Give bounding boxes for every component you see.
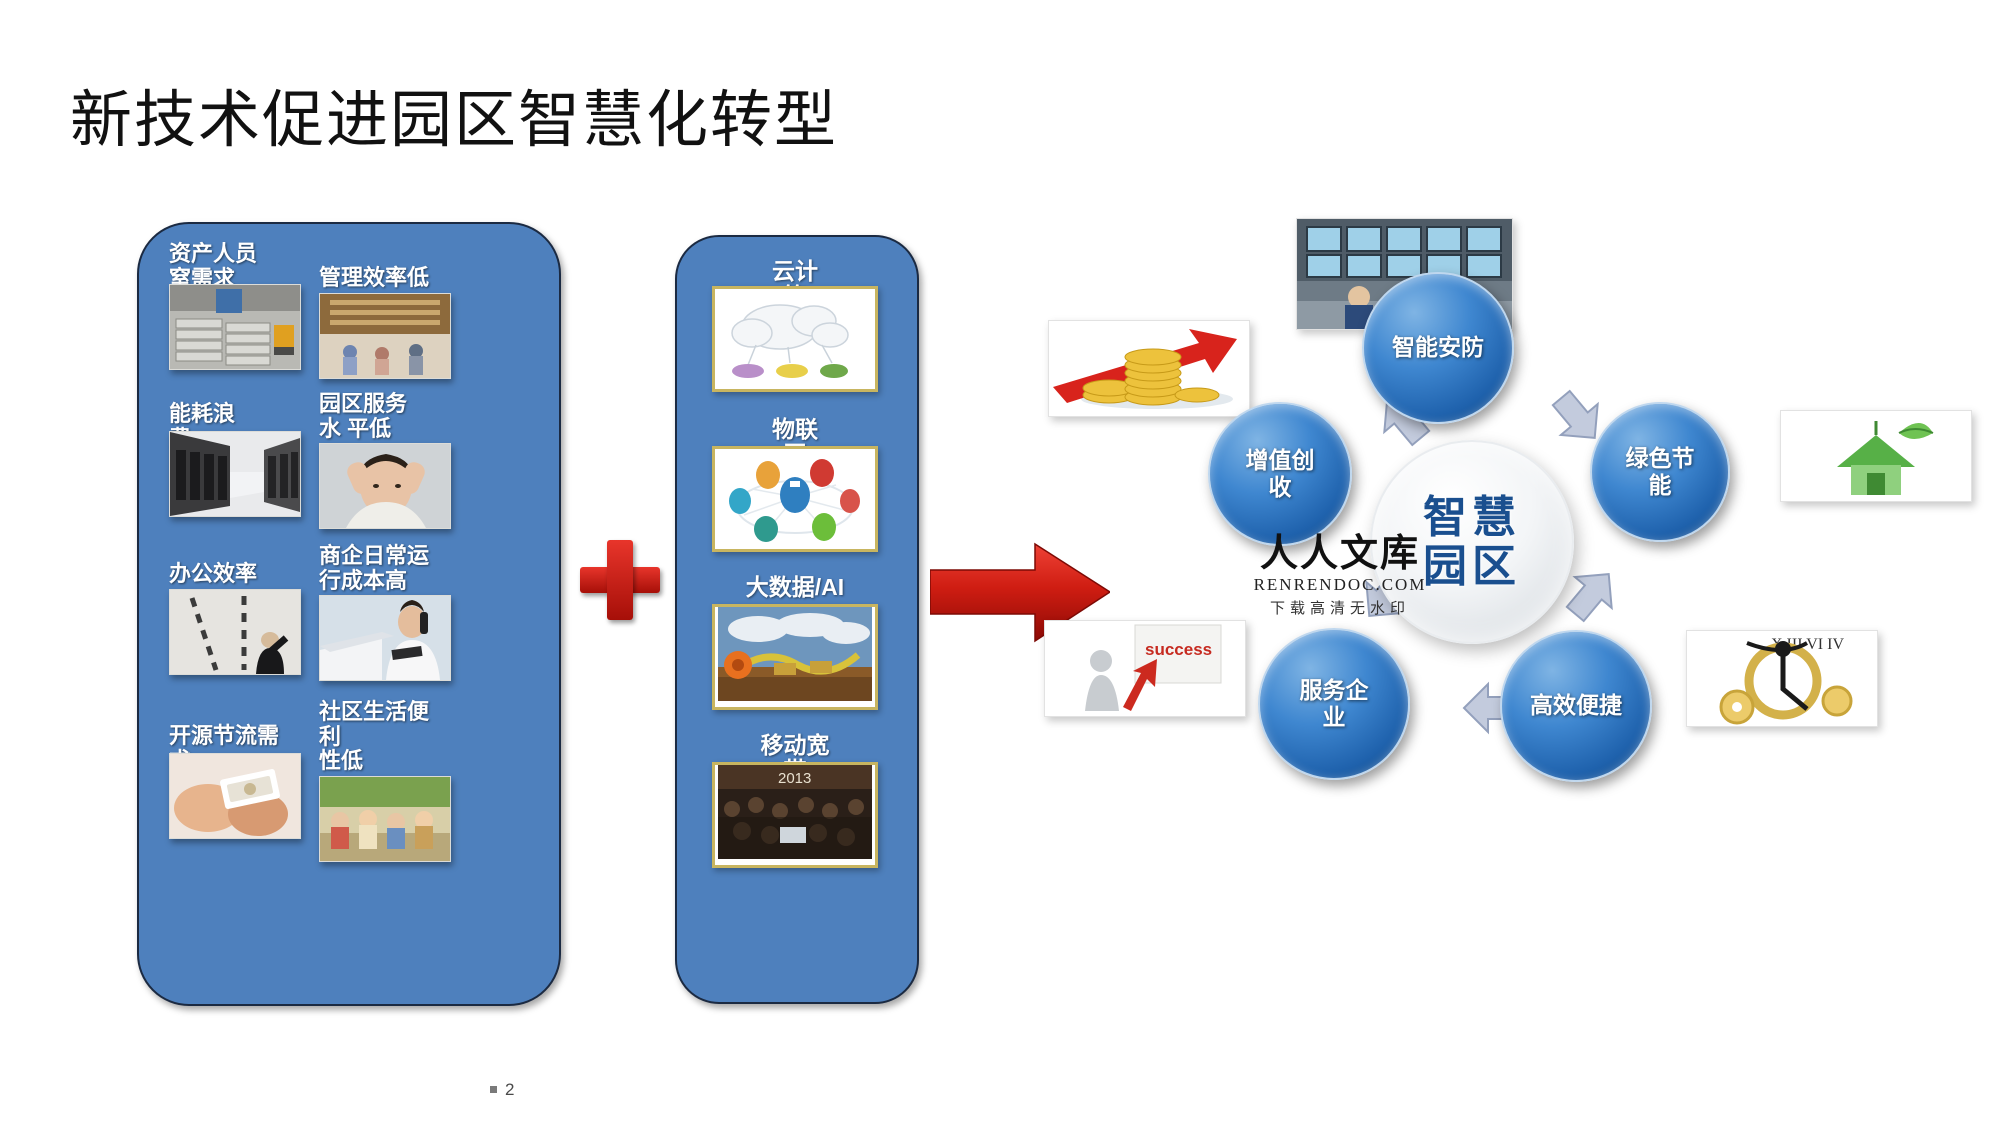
page-number: 2 (490, 1080, 514, 1100)
tech-item: 移动宽 带 2013 (710, 733, 880, 868)
node-label: 高效便捷 (1520, 692, 1632, 719)
data-center-racks-photo (169, 431, 301, 517)
svg-text:2013: 2013 (778, 770, 811, 787)
problem-item: 能耗浪 费 (169, 402, 299, 517)
success-arrow-figure-photo: success (1044, 620, 1246, 717)
person-crossroad-photo (169, 589, 301, 675)
problem-label: 社区生活便利 性低 (319, 700, 449, 774)
node-efficient-convenient[interactable]: 高效便捷 (1500, 630, 1652, 782)
page-title: 新技术促进园区智慧化转型 (70, 88, 950, 155)
gold-coins-growth-photo (1048, 320, 1250, 417)
node-label: 绿色节 能 (1616, 445, 1705, 499)
svg-text:success: success (1145, 640, 1212, 659)
hub-center-label: 智慧 园区 (1423, 493, 1521, 592)
page-number-value: 2 (505, 1080, 514, 1099)
bullet-icon (490, 1086, 497, 1093)
hands-money-photo (169, 753, 301, 839)
cloud-computing-photo (712, 286, 878, 392)
tech-item: 大数据/AI (710, 575, 880, 710)
problem-label: 园区服务 水 平低 (319, 392, 449, 441)
tech-item: 云计 算 (710, 259, 880, 392)
tech-panel: 云计 算 (675, 235, 919, 1004)
slide-canvas: 新技术促进园区智慧化转型 资产人员 窒需求 算 (0, 0, 2000, 1126)
stressed-man-photo (319, 443, 451, 529)
plus-sign-icon (580, 540, 660, 620)
problem-item: 开源节流需 求 (169, 724, 299, 839)
problem-item: 资产人员 窒需求 算 (169, 242, 299, 370)
problem-item: 园区服务 水 平低 (319, 392, 449, 529)
problem-label: 商企日常运 行成本高 (319, 544, 449, 593)
gears-clock-photo: X III VI IV (1686, 630, 1878, 727)
problem-label: 办公效率 (169, 562, 299, 587)
green-eco-house-photo (1780, 410, 1972, 502)
problem-item: 商企日常运 行成本高 (319, 544, 449, 681)
community-people-photo (319, 776, 451, 862)
node-label: 服务企 业 (1290, 677, 1379, 731)
tech-item: 物联 网 (710, 417, 880, 552)
node-value-added-revenue[interactable]: 增值创 收 (1208, 402, 1352, 546)
mobile-broadband-crowd-2013-photo: 2013 (712, 762, 878, 868)
problem-item: 管理效率低 (319, 266, 449, 379)
problem-item: 办公效率 (169, 562, 299, 675)
node-smart-security[interactable]: 智能安防 (1362, 272, 1514, 424)
tech-label: 大数据/AI (710, 575, 880, 600)
node-serve-enterprise[interactable]: 服务企 业 (1258, 628, 1410, 780)
problem-label: 管理效率低 (319, 266, 449, 291)
busy-office-hall-photo (319, 293, 451, 379)
node-label: 增值创 收 (1236, 447, 1325, 501)
man-on-phone-photo (319, 595, 451, 681)
smart-park-hub-diagram: success X III VI IV (1080, 230, 1980, 970)
node-label: 智能安防 (1382, 334, 1494, 361)
big-data-dragon-photo (712, 604, 878, 710)
hub-center: 智慧 园区 (1370, 440, 1574, 644)
node-green-energy[interactable]: 绿色节 能 (1590, 402, 1730, 542)
warehouse-pallets-photo (169, 284, 301, 370)
iot-network-photo (712, 446, 878, 552)
problem-item: 社区生活便利 性低 (319, 700, 449, 862)
problems-panel: 资产人员 窒需求 算 管理效率低 (137, 222, 561, 1006)
